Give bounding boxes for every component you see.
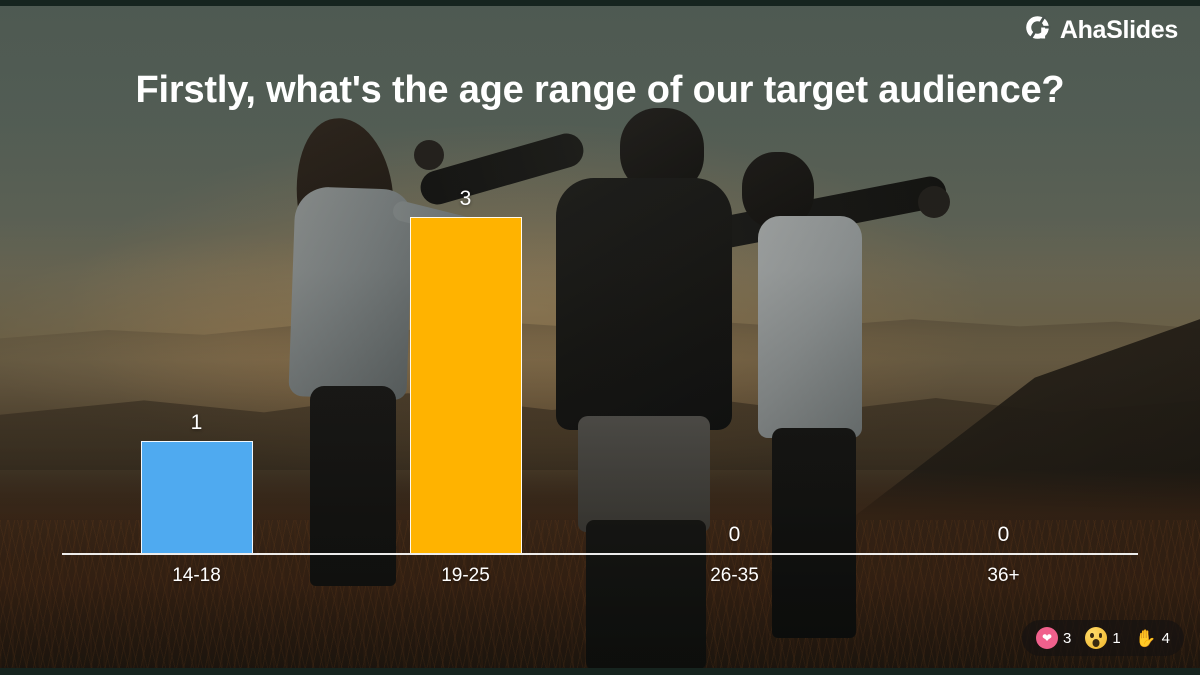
page-title: Firstly, what's the age range of our tar… [0,68,1200,113]
reaction-heart[interactable]: ❤ 3 [1036,627,1071,649]
bar-19-25[interactable] [410,217,522,553]
chart-column: 1 14-18 [62,150,331,553]
ahaslides-logo-text: AhaSlides [1060,18,1178,43]
bar-14-18[interactable] [141,441,253,553]
bar-value-label: 1 [191,412,203,433]
raised-hand-icon: ✋ [1135,627,1157,649]
slide-bottom-edge-band [0,668,1200,675]
reaction-wow[interactable]: 1 [1085,627,1120,649]
chart-column: 3 19-25 [331,150,600,553]
reaction-hand[interactable]: ✋ 4 [1135,627,1170,649]
astonished-face-icon [1085,627,1107,649]
poll-bar-chart: 1 14-18 3 19-25 0 26-35 0 36+ [62,150,1138,590]
bar-value-label: 0 [998,524,1010,545]
reaction-count: 1 [1112,631,1120,646]
x-tick-label: 14-18 [62,565,331,587]
x-tick-label: 19-25 [331,565,600,587]
reaction-count: 3 [1063,631,1071,646]
bar-value-label: 0 [729,524,741,545]
chart-x-axis-line [62,553,1138,555]
heart-icon: ❤ [1036,627,1058,649]
bar-value-label: 3 [460,188,472,209]
ahaslides-logo[interactable]: AhaSlides [1024,14,1178,46]
ahaslides-poll-slide: AhaSlides Firstly, what's the age range … [0,0,1200,675]
slide-top-edge-band [0,0,1200,6]
reaction-count: 4 [1162,631,1170,646]
chart-column: 0 36+ [869,150,1138,553]
ahaslides-circle-a-icon [1024,14,1051,46]
reaction-bar: ❤ 3 1 ✋ 4 [1022,620,1184,656]
x-tick-label: 36+ [869,565,1138,587]
x-tick-label: 26-35 [600,565,869,587]
chart-column: 0 26-35 [600,150,869,553]
chart-plot-area: 1 14-18 3 19-25 0 26-35 0 36+ [62,150,1138,553]
